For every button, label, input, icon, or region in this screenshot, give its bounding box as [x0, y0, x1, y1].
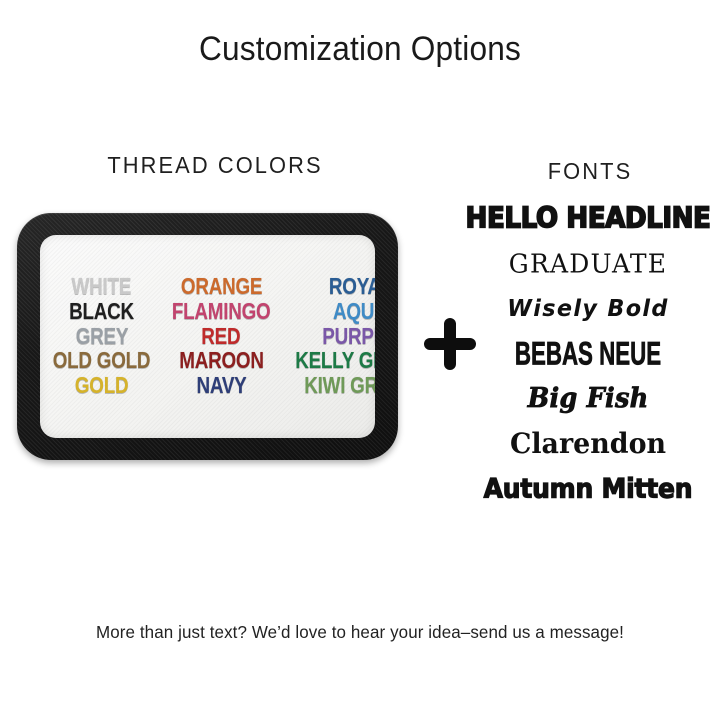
thread-color-kiwi-green: KIWI GREEN [304, 374, 375, 398]
thread-color-kelly-green: KELLY GREEN [295, 349, 375, 373]
thread-color-aqua: AQUA [333, 300, 375, 324]
font-sample-hello-headline: HELLO HEADLINE [470, 195, 707, 242]
plus-icon-vertical-bar [444, 318, 456, 370]
thread-color-white: WHITE [72, 275, 132, 299]
thread-color-column-2: ORANGE FLAMINGO RED MAROON NAVY [161, 275, 281, 397]
thread-color-gold: GOLD [75, 374, 129, 398]
thread-color-old-gold: OLD GOLD [53, 349, 151, 373]
font-sample-big-fish: Big Fish [472, 376, 704, 421]
page-title: Customization Options [25, 30, 695, 69]
thread-color-navy: NAVY [196, 374, 246, 398]
footer-note: More than just text? We’d love to hear y… [11, 622, 709, 643]
thread-color-flamingo: FLAMINGO [172, 300, 271, 324]
customization-options-page: Customization Options THREAD COLORS WHIT… [0, 0, 720, 720]
font-sample-bebas-neue: BEBAS NEUE [500, 330, 676, 378]
thread-color-black: BLACK [69, 300, 134, 324]
thread-color-red: RED [202, 325, 241, 349]
thread-color-grey: GREY [75, 325, 127, 349]
thread-color-purple: PURPLE [323, 325, 375, 349]
font-sample-wisely-bold: Wisely Bold [470, 286, 707, 331]
thread-colors-heading: THREAD COLORS [30, 152, 401, 179]
thread-color-royal: ROYAL [329, 275, 375, 299]
thread-colors-patch: WHITE BLACK GREY OLD GOLD GOLD ORANGE FL… [17, 213, 398, 460]
thread-color-orange: ORANGE [180, 275, 261, 299]
fonts-heading: FONTS [476, 158, 704, 185]
thread-color-column-3: ROYAL AQUA PURPLE KELLY GREEN KIWI GREEN [281, 275, 375, 397]
patch-face: WHITE BLACK GREY OLD GOLD GOLD ORANGE FL… [40, 235, 375, 438]
patch-border: WHITE BLACK GREY OLD GOLD GOLD ORANGE FL… [17, 213, 398, 460]
thread-color-column-1: WHITE BLACK GREY OLD GOLD GOLD [42, 275, 161, 397]
fonts-list: HELLO HEADLINE GRADUATE Wisely Bold BEBA… [466, 196, 710, 511]
font-sample-autumn-mitten: Autumn Mitten [471, 465, 705, 511]
thread-color-maroon: MAROON [179, 349, 263, 373]
font-sample-clarendon: Clarendon [471, 421, 705, 466]
thread-color-columns: WHITE BLACK GREY OLD GOLD GOLD ORANGE FL… [40, 235, 375, 438]
font-sample-graduate: GRADUATE [466, 240, 710, 288]
